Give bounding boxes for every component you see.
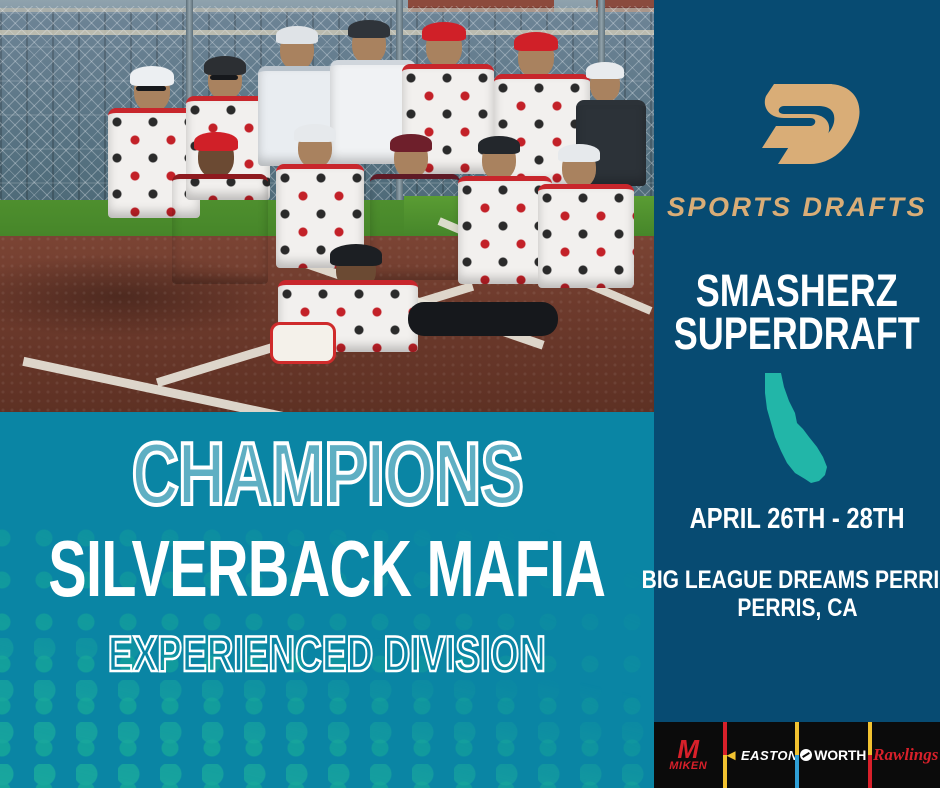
easton-logo-icon: ◄ EASTON xyxy=(727,748,796,763)
event-title: SMASHERZ SUPERDRAFT xyxy=(674,269,920,355)
rawlings-logo-icon: Rawlings xyxy=(873,745,938,765)
sponsor-tile-miken[interactable]: M MIKEN xyxy=(654,722,723,788)
easton-label: EASTON xyxy=(741,748,795,763)
sd-monogram-icon xyxy=(722,76,872,180)
event-title-line1: SMASHERZ xyxy=(674,269,920,312)
miken-mark: M xyxy=(669,738,707,761)
sponsor-tile-easton[interactable]: ◄ EASTON xyxy=(727,722,796,788)
event-title-line2: SUPERDRAFT xyxy=(674,312,920,355)
sponsor-tile-worth[interactable]: WORTH xyxy=(799,722,868,788)
california-state-icon xyxy=(751,371,843,491)
division-label: EXPERIENCED DIVISION xyxy=(108,629,546,679)
easton-chevron-icon: ◄ xyxy=(727,748,739,763)
team-championship-photo: BLD xyxy=(0,0,654,412)
state-icon-wrap xyxy=(751,371,843,491)
champions-title: CHAMPIONS xyxy=(131,434,522,515)
sponsor-tile-rawlings[interactable]: Rawlings xyxy=(872,722,940,788)
miken-label: MIKEN xyxy=(669,760,707,772)
miken-logo-icon: M MIKEN xyxy=(669,738,707,772)
venue-city-state: PERRIS, CA xyxy=(641,594,940,622)
brand-wordmark: SPORTS DRAFTS xyxy=(667,192,927,223)
venue-name: BIG LEAGUE DREAMS PERRIS xyxy=(641,566,940,594)
event-dates: APRIL 26TH - 28TH xyxy=(690,503,905,536)
brand-logo: SPORTS DRAFTS xyxy=(667,76,927,223)
team-name: SILVERBACK MAFIA xyxy=(49,531,606,607)
championship-poster: BLD xyxy=(0,0,940,788)
sponsor-bar: M MIKEN ◄ EASTON WORTH Rawlings xyxy=(654,722,940,788)
worth-mark-icon xyxy=(800,749,812,761)
venue-block: BIG LEAGUE DREAMS PERRIS PERRIS, CA xyxy=(641,566,940,622)
worth-label: WORTH xyxy=(814,747,866,763)
headline-block: CHAMPIONS SILVERBACK MAFIA EXPERIENCED D… xyxy=(0,412,654,788)
left-column: BLD xyxy=(0,0,654,788)
worth-logo-icon: WORTH xyxy=(800,747,866,763)
right-info-panel: SPORTS DRAFTS SMASHERZ SUPERDRAFT APRIL … xyxy=(654,0,940,788)
